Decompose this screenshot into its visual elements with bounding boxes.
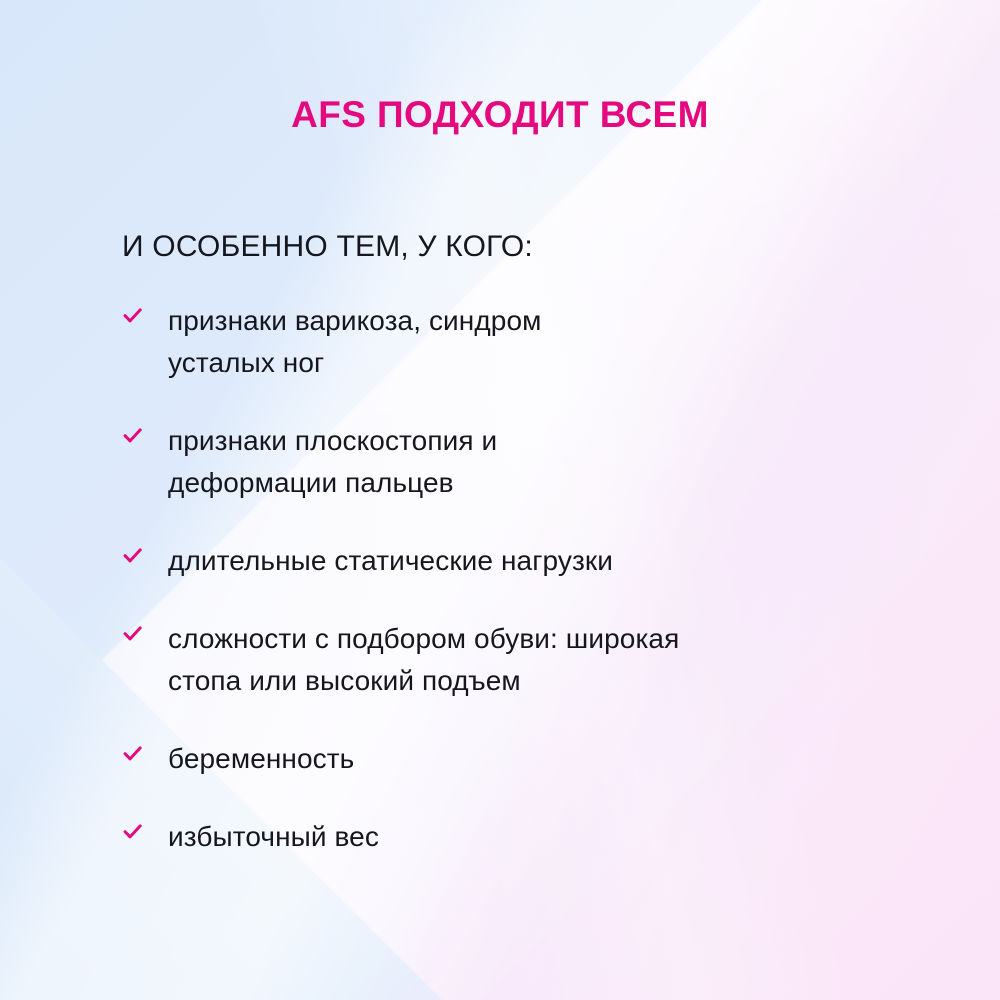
check-icon [122, 743, 143, 764]
check-icon [122, 305, 143, 326]
list-item: длительные статические нагрузки [122, 540, 912, 582]
list-item: беременность [122, 738, 912, 780]
check-icon [122, 623, 143, 644]
list-item: признаки плоскостопия и деформации пальц… [122, 420, 912, 504]
list-item-label: признаки плоскостопия и деформации пальц… [168, 420, 912, 504]
check-icon [122, 821, 143, 842]
page-title: AFS ПОДХОДИТ ВСЕМ [0, 95, 1000, 136]
slide-content: AFS ПОДХОДИТ ВСЕМ И ОСОБЕННО ТЕМ, У КОГО… [0, 0, 1000, 1000]
list-item-label: признаки варикоза, синдром усталых ног [168, 300, 912, 384]
list-item: признаки варикоза, синдром усталых ног [122, 300, 912, 384]
list-item-label: беременность [168, 738, 912, 780]
subtitle: И ОСОБЕННО ТЕМ, У КОГО: [122, 228, 533, 266]
list-item: сложности с подбором обуви: широкая стоп… [122, 618, 912, 702]
benefits-list: признаки варикоза, синдром усталых ног п… [122, 300, 912, 858]
list-item-label: сложности с подбором обуви: широкая стоп… [168, 618, 912, 702]
list-item-label: длительные статические нагрузки [168, 540, 912, 582]
slide-root: AFS ПОДХОДИТ ВСЕМ И ОСОБЕННО ТЕМ, У КОГО… [0, 0, 1000, 1000]
list-item: избыточный вес [122, 816, 912, 858]
check-icon [122, 425, 143, 446]
check-icon [122, 545, 143, 566]
list-item-label: избыточный вес [168, 816, 912, 858]
